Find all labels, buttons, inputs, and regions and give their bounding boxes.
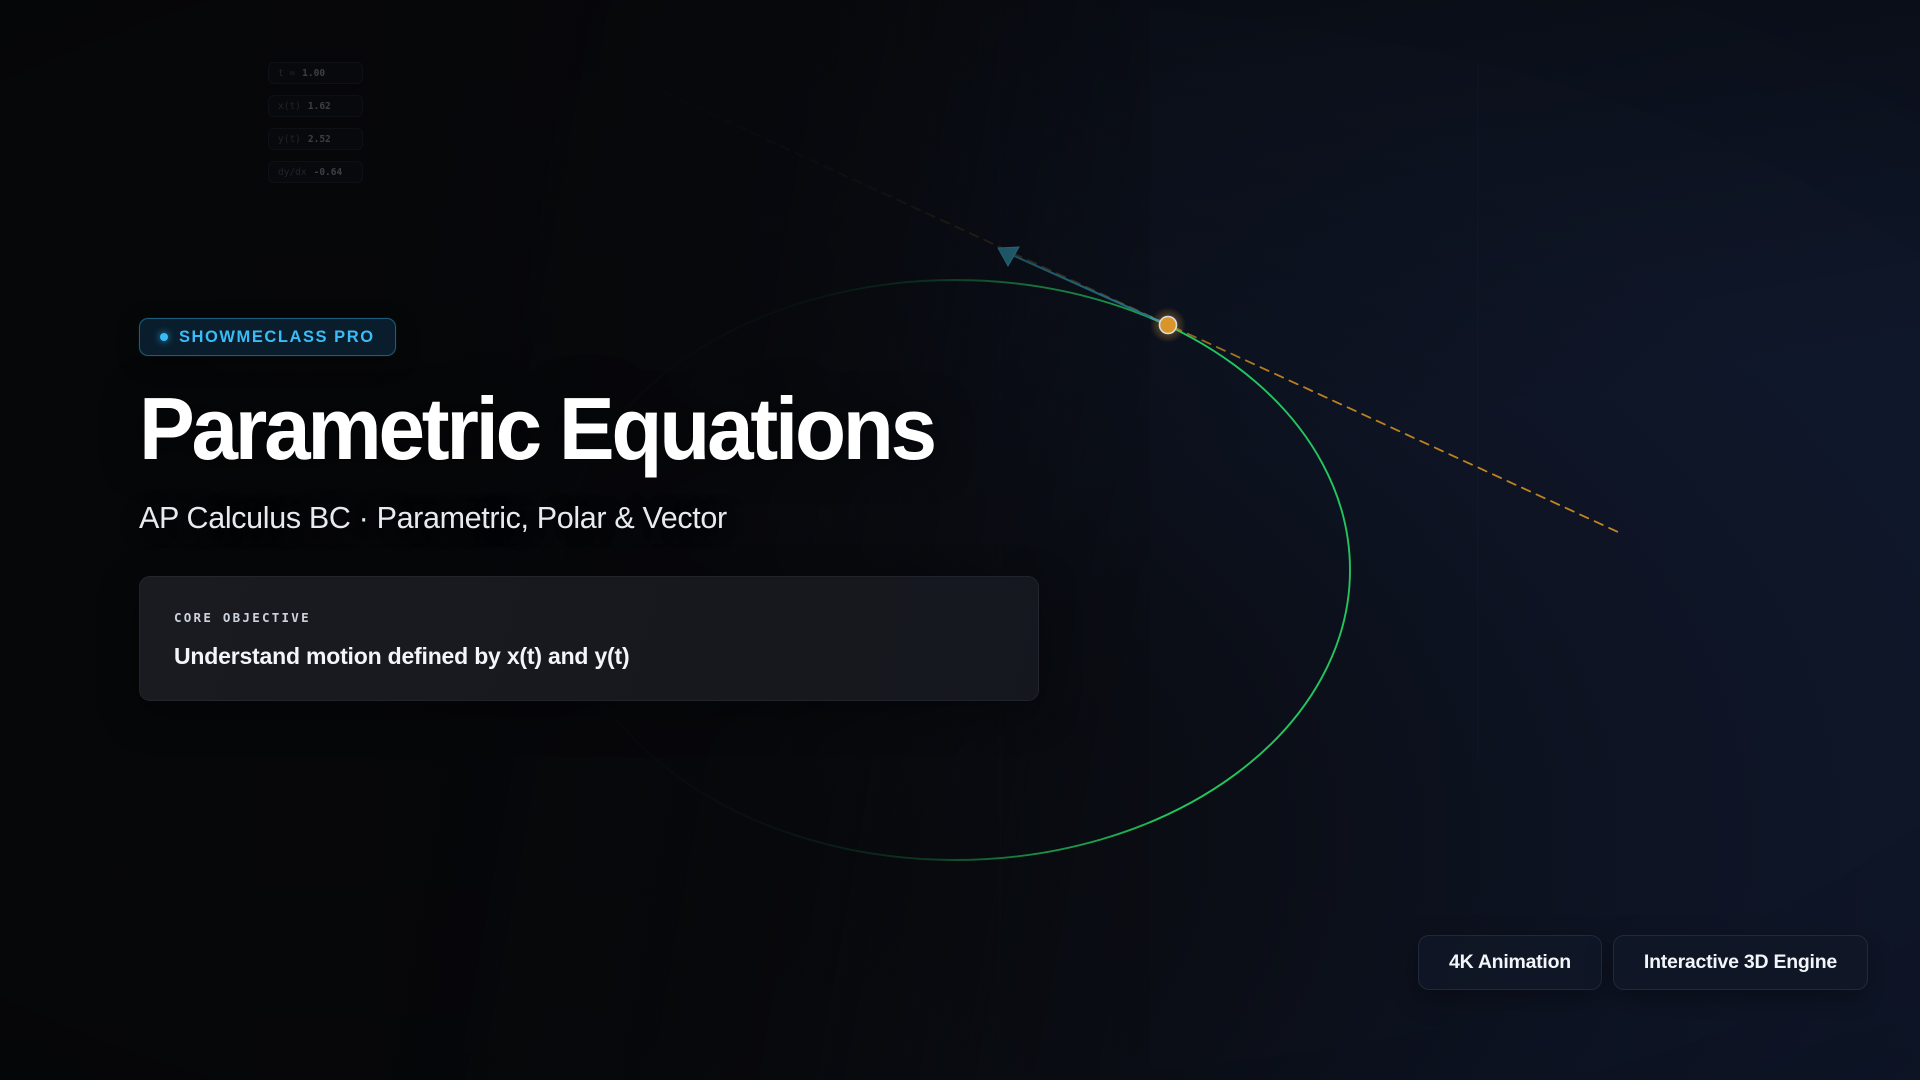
readout-row-x: x(t) 1.62 — [268, 95, 363, 117]
parameter-readout-panel: t = 1.00 x(t) 1.62 y(t) 2.52 dy/dx -0.64 — [268, 62, 363, 183]
readout-value-t: 1.00 — [302, 68, 325, 79]
status-dot-icon — [160, 333, 168, 341]
core-objective-label: CORE OBJECTIVE — [174, 610, 1004, 625]
page-subtitle: AP Calculus BC · Parametric, Polar & Vec… — [139, 501, 1139, 536]
readout-label-slope: dy/dx — [278, 167, 307, 178]
product-badge[interactable]: SHOWMECLASS PRO — [139, 318, 396, 356]
readout-row-t: t = 1.00 — [268, 62, 363, 84]
page-title: Parametric Equations — [139, 385, 1089, 473]
core-objective-card: CORE OBJECTIVE Understand motion defined… — [139, 576, 1039, 701]
readout-value-x: 1.62 — [308, 101, 331, 112]
core-objective-text: Understand motion defined by x(t) and y(… — [174, 643, 1004, 670]
readout-label-x: x(t) — [278, 101, 301, 112]
readout-label-y: y(t) — [278, 134, 301, 145]
hero-copy: SHOWMECLASS PRO Parametric Equations AP … — [139, 318, 1139, 701]
product-badge-label: SHOWMECLASS PRO — [179, 328, 375, 347]
chip-4k-animation[interactable]: 4K Animation — [1418, 935, 1602, 990]
hero-stage: t = 1.00 x(t) 1.62 y(t) 2.52 dy/dx -0.64… — [0, 0, 1920, 1080]
feature-chip-group: 4K Animation Interactive 3D Engine — [1418, 935, 1868, 990]
readout-value-slope: -0.64 — [314, 167, 343, 178]
readout-value-y: 2.52 — [308, 134, 331, 145]
readout-row-y: y(t) 2.52 — [268, 128, 363, 150]
readout-row-slope: dy/dx -0.64 — [268, 161, 363, 183]
readout-label-t: t = — [278, 68, 295, 79]
chip-interactive-3d-engine[interactable]: Interactive 3D Engine — [1613, 935, 1868, 990]
